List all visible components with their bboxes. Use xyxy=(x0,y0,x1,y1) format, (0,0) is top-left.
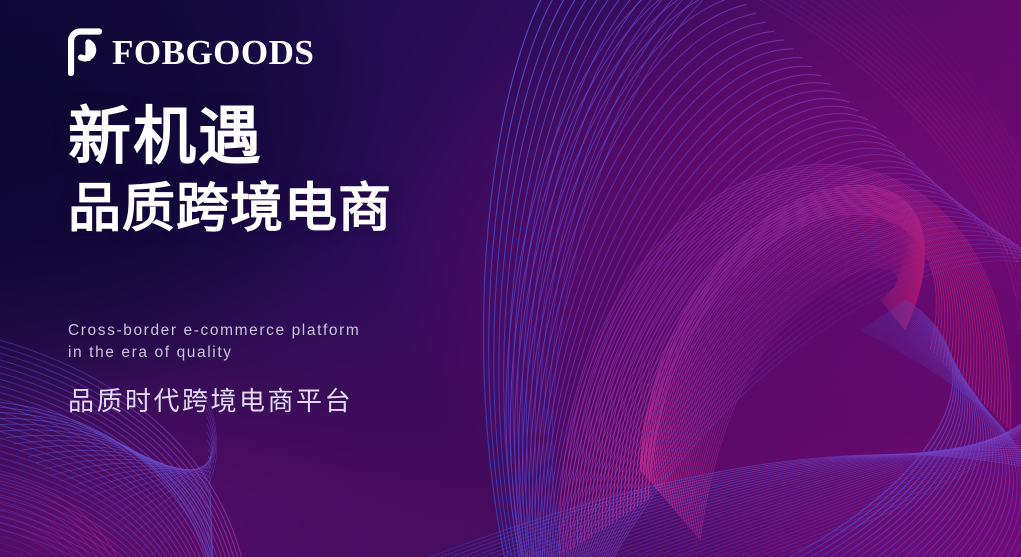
brand-wordmark: FOBGOODS xyxy=(112,35,314,70)
headline-line-1: 新机遇 xyxy=(68,104,392,171)
headline: 新机遇 品质跨境电商 xyxy=(68,104,392,237)
subtitle-english-line-1: Cross-border e-commerce platform xyxy=(68,320,360,342)
subtitle-english-line-2: in the era of quality xyxy=(68,342,360,364)
brand-logo[interactable]: FOBGOODS xyxy=(68,28,314,76)
promo-banner: FOBGOODS 新机遇 品质跨境电商 Cross-border e-comme… xyxy=(0,0,1021,557)
headline-line-2: 品质跨境电商 xyxy=(68,181,392,237)
banner-content: FOBGOODS 新机遇 品质跨境电商 Cross-border e-comme… xyxy=(68,0,538,557)
subtitle-block: Cross-border e-commerce platform in the … xyxy=(68,320,360,418)
fobgoods-f-mark-icon xyxy=(68,28,102,76)
subtitle-chinese: 品质时代跨境电商平台 xyxy=(68,381,360,418)
